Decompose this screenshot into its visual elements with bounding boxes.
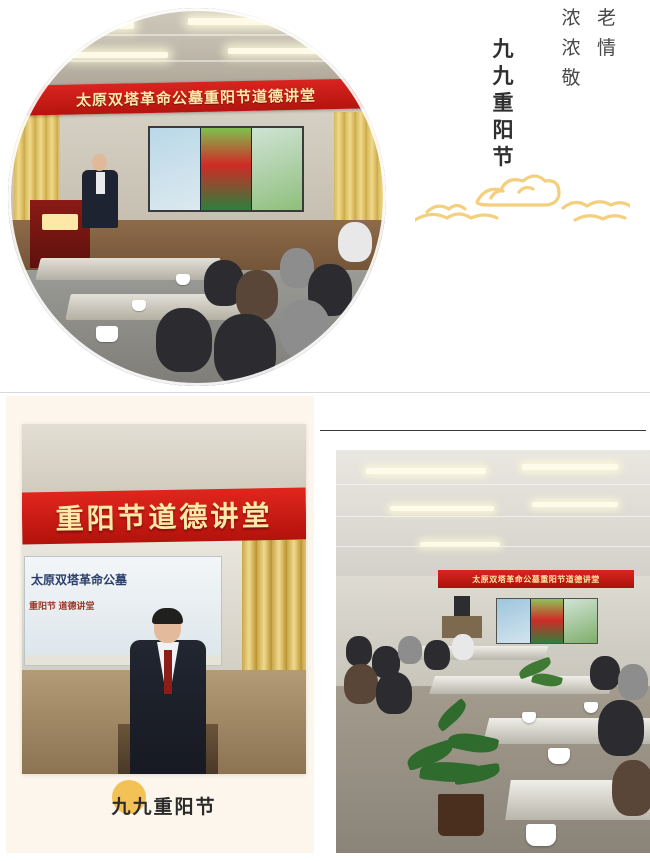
tea-cup: [176, 274, 190, 285]
left-photo-banner-text: 重阳节道德讲堂: [55, 494, 273, 538]
ceiling-light: [48, 22, 134, 29]
circular-hero-photo: 太原双塔革命公墓重阳节道德讲堂: [8, 8, 386, 386]
screen-panel: [150, 128, 200, 210]
screen-panel: [531, 599, 564, 643]
vertical-subtitle-col2: 浓 浓 敬: [554, 4, 588, 94]
subtitle-char: 浓: [554, 4, 588, 34]
speaker-hair: [152, 608, 183, 624]
screen-panel: [201, 128, 251, 210]
tea-cup: [132, 300, 146, 311]
tea-cup: [548, 748, 570, 764]
ceiling-line: [336, 484, 650, 485]
audience-person: [214, 314, 276, 386]
horizontal-rule: [320, 430, 646, 431]
conference-table: [35, 258, 220, 280]
auspicious-cloud-icon: [415, 168, 630, 230]
ceiling-light: [228, 48, 324, 54]
title-char: 九: [487, 63, 521, 90]
left-photo-banner: 重阳节道德讲堂: [22, 488, 306, 545]
subtitle-char: 老: [590, 4, 624, 34]
audience-person: [344, 664, 378, 704]
title-char: 重: [487, 90, 521, 117]
ceiling-line: [8, 34, 386, 36]
audience-person: [452, 634, 474, 660]
ceiling-light: [366, 468, 486, 474]
screen-panel: [497, 599, 530, 643]
speaker-at-podium: [454, 596, 470, 618]
audience-person: [424, 640, 450, 670]
title-char: 节: [487, 144, 521, 171]
audience-person: [236, 270, 278, 320]
speaker-tie: [164, 650, 172, 694]
caption-text: 九九重阳节: [22, 792, 306, 819]
subtitle-char: 浓: [554, 34, 588, 64]
tea-cup: [526, 824, 556, 846]
title-char: 九: [487, 36, 521, 63]
vertical-title: 九 九 重 阳 节: [487, 36, 521, 171]
audience-person: [618, 664, 648, 700]
screen-panel: [564, 599, 597, 643]
ceiling-light: [390, 506, 494, 511]
ceiling-light: [522, 464, 618, 470]
speaker-shirt: [96, 172, 105, 194]
audience-person: [156, 308, 212, 372]
screen-panel: [252, 128, 302, 210]
subtitle-char: 敬: [554, 64, 588, 94]
audience-person: [338, 222, 372, 262]
vertical-subtitle-col1: 老 情: [590, 4, 624, 64]
ceiling-line: [336, 546, 650, 547]
curtain-right: [334, 112, 384, 232]
audience-person: [346, 636, 372, 666]
video-wall: [148, 126, 304, 212]
ceiling-light: [420, 542, 500, 546]
hero-banner-text: 太原双塔革命公墓重阳节道德讲堂: [76, 84, 316, 110]
left-card: 太原双塔革命公墓 重阳节 道德讲堂 重阳节道德讲堂 九九重阳节: [6, 396, 314, 853]
right-photo-banner-text: 太原双塔革命公墓重阳节道德讲堂: [472, 574, 600, 585]
right-photo-banner: 太原双塔革命公墓重阳节道德讲堂: [438, 570, 634, 588]
top-section: 太原双塔革命公墓重阳节道德讲堂 浓: [0, 0, 650, 390]
screen-line-1: 太原双塔革命公墓: [31, 571, 127, 588]
audience-person: [590, 656, 620, 690]
ceiling-light: [532, 502, 618, 507]
ceiling-light: [68, 52, 168, 58]
podium-label: [42, 214, 78, 230]
ceiling: [22, 424, 306, 498]
subtitle-char: 情: [590, 34, 624, 64]
audience-person: [280, 300, 330, 358]
audience-person: [598, 700, 644, 756]
hero-photo-scene: 太原双塔革命公墓重阳节道德讲堂: [8, 8, 386, 386]
left-caption: 九九重阳节: [22, 792, 306, 819]
audience-person: [398, 636, 422, 664]
screen-line-2: 重阳节 道德讲堂: [29, 599, 95, 612]
audience-room-photo: 太原双塔革命公墓重阳节道德讲堂: [336, 450, 650, 853]
tea-cup: [96, 326, 118, 342]
video-wall: [496, 598, 598, 644]
plant-pot: [438, 794, 484, 836]
ceiling-line: [8, 60, 386, 62]
bottom-section: 太原双塔革命公墓 重阳节 道德讲堂 重阳节道德讲堂 九九重阳节: [0, 392, 650, 861]
audience-person: [376, 672, 412, 714]
speaker-head: [92, 154, 107, 171]
title-char: 阳: [487, 117, 521, 144]
ceiling-light: [188, 18, 298, 25]
lecture-banner-photo: 太原双塔革命公墓 重阳节 道德讲堂 重阳节道德讲堂: [22, 424, 306, 774]
ceiling-line: [336, 516, 650, 517]
audience-person: [612, 760, 650, 816]
